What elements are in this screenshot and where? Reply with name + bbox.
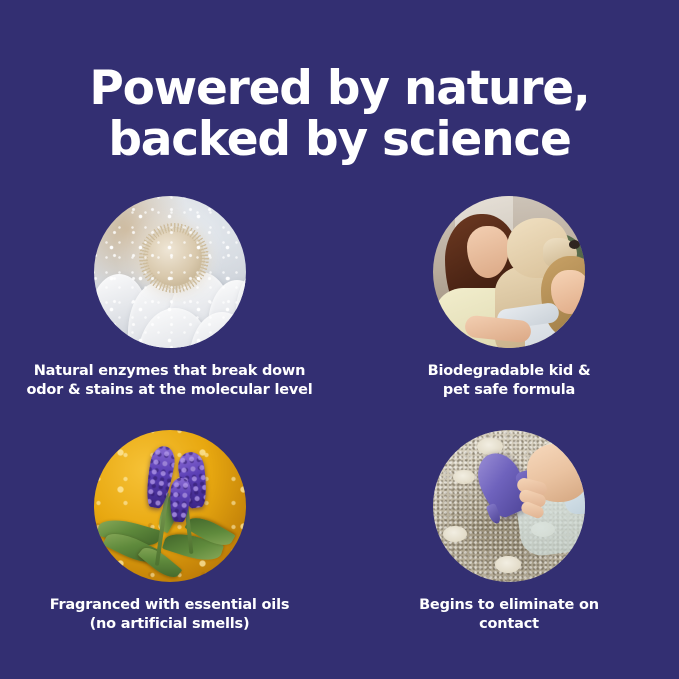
caption-line-1: Natural enzymes that break down [20, 362, 320, 381]
caption-line-1: Fragranced with essential oils [20, 596, 320, 615]
feature-caption-essential-oils: Fragranced with essential oils (no artif… [20, 596, 320, 634]
carpet-light-spot [443, 526, 467, 542]
dog-nose [569, 240, 580, 249]
caption-line-2: odor & stains at the molecular level [20, 381, 320, 400]
page-title: Powered by nature, backed by science [0, 63, 679, 165]
caption-line-2: contact [359, 615, 659, 634]
feature-card-eliminates-on-contact: Begins to eliminate on contact [339, 430, 679, 664]
caption-line-2: (no artificial smells) [20, 615, 320, 634]
headline-line-2: backed by science [0, 114, 679, 165]
sparkle-overlay [94, 196, 246, 348]
feature-card-kid-pet-safe: Biodegradable kid & pet safe formula [339, 196, 679, 430]
feature-poster: Powered by nature, backed by science Nat… [0, 0, 679, 679]
caption-line-1: Begins to eliminate on [359, 596, 659, 615]
caption-line-1: Biodegradable kid & [359, 362, 659, 381]
microscopic-enzymes-photo [94, 196, 246, 348]
feature-card-enzymes: Natural enzymes that break down odor & s… [0, 196, 339, 430]
feature-grid: Natural enzymes that break down odor & s… [0, 196, 679, 664]
feature-caption-eliminates-on-contact: Begins to eliminate on contact [359, 596, 659, 634]
carpet-light-spot [495, 556, 521, 573]
headline-line-1: Powered by nature, [0, 63, 679, 114]
spray-bottle-carpet-photo [433, 430, 585, 582]
lavender-essential-oil-photo [94, 430, 246, 582]
carpet-light-spot [453, 470, 475, 484]
feature-card-essential-oils: Fragranced with essential oils (no artif… [0, 430, 339, 664]
feature-caption-kid-pet-safe: Biodegradable kid & pet safe formula [359, 362, 659, 400]
feature-caption-enzymes: Natural enzymes that break down odor & s… [20, 362, 320, 400]
family-with-dog-photo [433, 196, 585, 348]
caption-line-2: pet safe formula [359, 381, 659, 400]
